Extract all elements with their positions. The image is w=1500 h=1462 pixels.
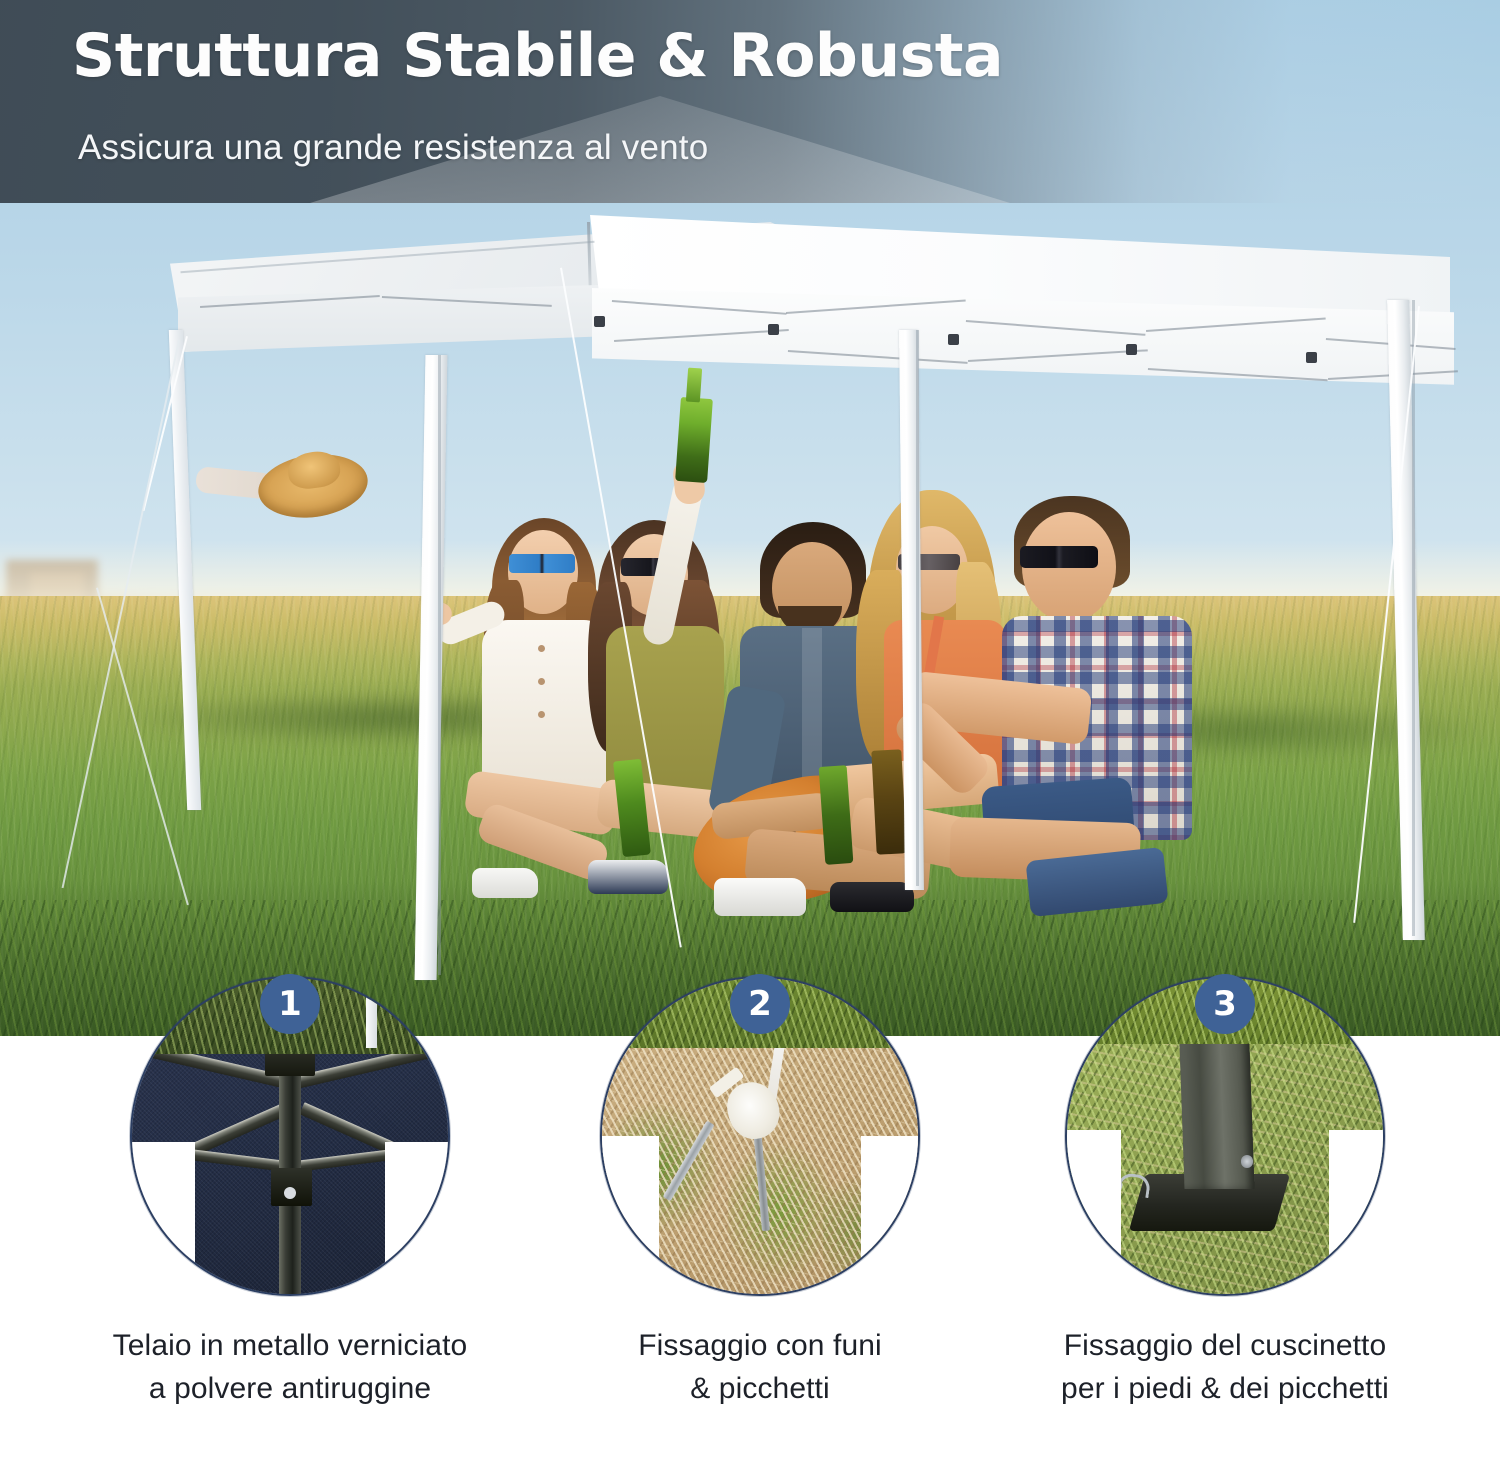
truss-clip xyxy=(594,316,605,327)
feature-circle-3: 3 xyxy=(1065,976,1385,1296)
caption-line: & picchetti xyxy=(510,1368,1010,1411)
canopy-leg-rear-left xyxy=(169,330,201,810)
guy-rope-left-lower xyxy=(62,340,180,888)
feature-badge-3: 3 xyxy=(1195,974,1255,1034)
feature-caption-1: Telaio in metallo verniciato a polvere a… xyxy=(40,1325,540,1410)
header-overlay-band: Struttura Stabile & Robusta Assicura una… xyxy=(0,0,1500,203)
feature-circle-1: 1 xyxy=(130,976,450,1296)
caption-line: a polvere antiruggine xyxy=(40,1368,540,1411)
caption-line: per i piedi & dei picchetti xyxy=(975,1368,1475,1411)
hero-photo: Struttura Stabile & Robusta Assicura una… xyxy=(0,0,1500,1036)
truss-clip xyxy=(1126,344,1137,355)
page-title: Struttura Stabile & Robusta xyxy=(72,24,1003,89)
feature-caption-2: Fissaggio con funi & picchetti xyxy=(510,1325,1010,1410)
truss-clip xyxy=(1306,352,1317,363)
canopy-valance-left xyxy=(178,285,598,363)
canopy-leg-right xyxy=(1387,300,1425,940)
feature-circle-2: 2 xyxy=(600,976,920,1296)
truss-clip xyxy=(768,324,779,335)
caption-line: Fissaggio del cuscinetto xyxy=(975,1325,1475,1368)
canopy-leg-front-left xyxy=(415,355,448,980)
product-feature-banner: Struttura Stabile & Robusta Assicura una… xyxy=(0,0,1500,1462)
feature-caption-3: Fissaggio del cuscinetto per i piedi & d… xyxy=(975,1325,1475,1410)
canopy-leg-center xyxy=(899,330,924,890)
guy-rope-center xyxy=(560,268,682,948)
caption-line: Telaio in metallo verniciato xyxy=(40,1325,540,1368)
leg-edge-shading xyxy=(916,330,919,886)
feature-badge-2: 2 xyxy=(730,974,790,1034)
guy-rope-far-left xyxy=(96,587,189,905)
leg-edge-shading xyxy=(1412,300,1415,936)
caption-line: Fissaggio con funi xyxy=(510,1325,1010,1368)
truss-clip xyxy=(948,334,959,345)
feature-badge-1: 1 xyxy=(260,974,320,1034)
leg-edge-shading xyxy=(438,355,441,975)
page-subtitle: Assicura una grande resistenza al vento xyxy=(78,128,708,168)
feature-callouts: 1 Telaio in metallo verniciato a polvere… xyxy=(0,963,1500,1462)
